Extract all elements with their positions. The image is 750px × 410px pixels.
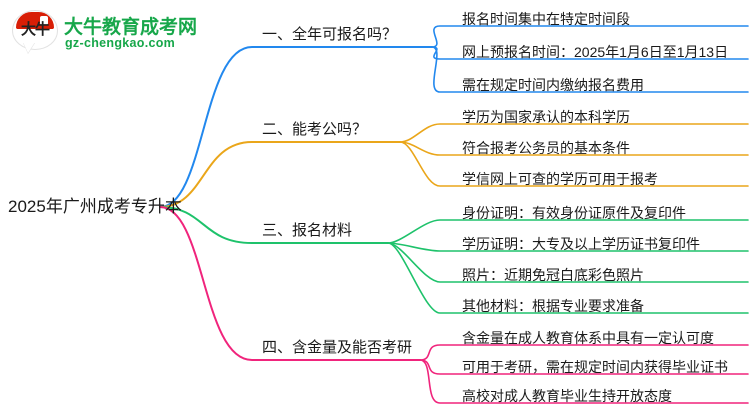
leaf-label-4-3[interactable]: 高校对成人教育毕业生持开放态度 — [462, 389, 672, 403]
leaf-label-2-3[interactable]: 学信网上可查的学历可用于报考 — [462, 172, 658, 186]
leaf-label-1-2[interactable]: 网上预报名时间：2025年1月6日至1月13日 — [462, 45, 728, 59]
leaf-label-2-1[interactable]: 学历为国家承认的本科学历 — [462, 110, 630, 124]
branch-label-3[interactable]: 三、报名材料 — [262, 223, 352, 238]
root-node: 2025年广州成考专升本 — [8, 198, 182, 215]
leaf-label-2-2[interactable]: 符合报考公务员的基本条件 — [462, 141, 630, 155]
leaf-label-1-1[interactable]: 报名时间集中在特定时间段 — [462, 12, 630, 26]
leaf-label-3-2[interactable]: 学历证明：大专及以上学历证书复印件 — [462, 237, 700, 251]
leaf-label-3-4[interactable]: 其他材料：根据专业要求准备 — [462, 299, 644, 313]
branch-label-2[interactable]: 二、能考公吗？ — [262, 122, 367, 137]
leaf-label-3-3[interactable]: 照片：近期免冠白底彩色照片 — [462, 268, 644, 282]
leaf-label-4-1[interactable]: 含金量在成人教育体系中具有一定认可度 — [462, 331, 714, 345]
leaf-label-4-2[interactable]: 可用于考研，需在规定时间内获得毕业证书 — [462, 360, 728, 374]
leaf-label-3-1[interactable]: 身份证明：有效身份证原件及复印件 — [462, 206, 686, 220]
branch-label-1[interactable]: 一、全年可报名吗？ — [262, 27, 397, 42]
branch-label-4[interactable]: 四、含金量及能否考研 — [262, 340, 412, 355]
leaf-label-1-3[interactable]: 需在规定时间内缴纳报名费用 — [462, 78, 644, 92]
